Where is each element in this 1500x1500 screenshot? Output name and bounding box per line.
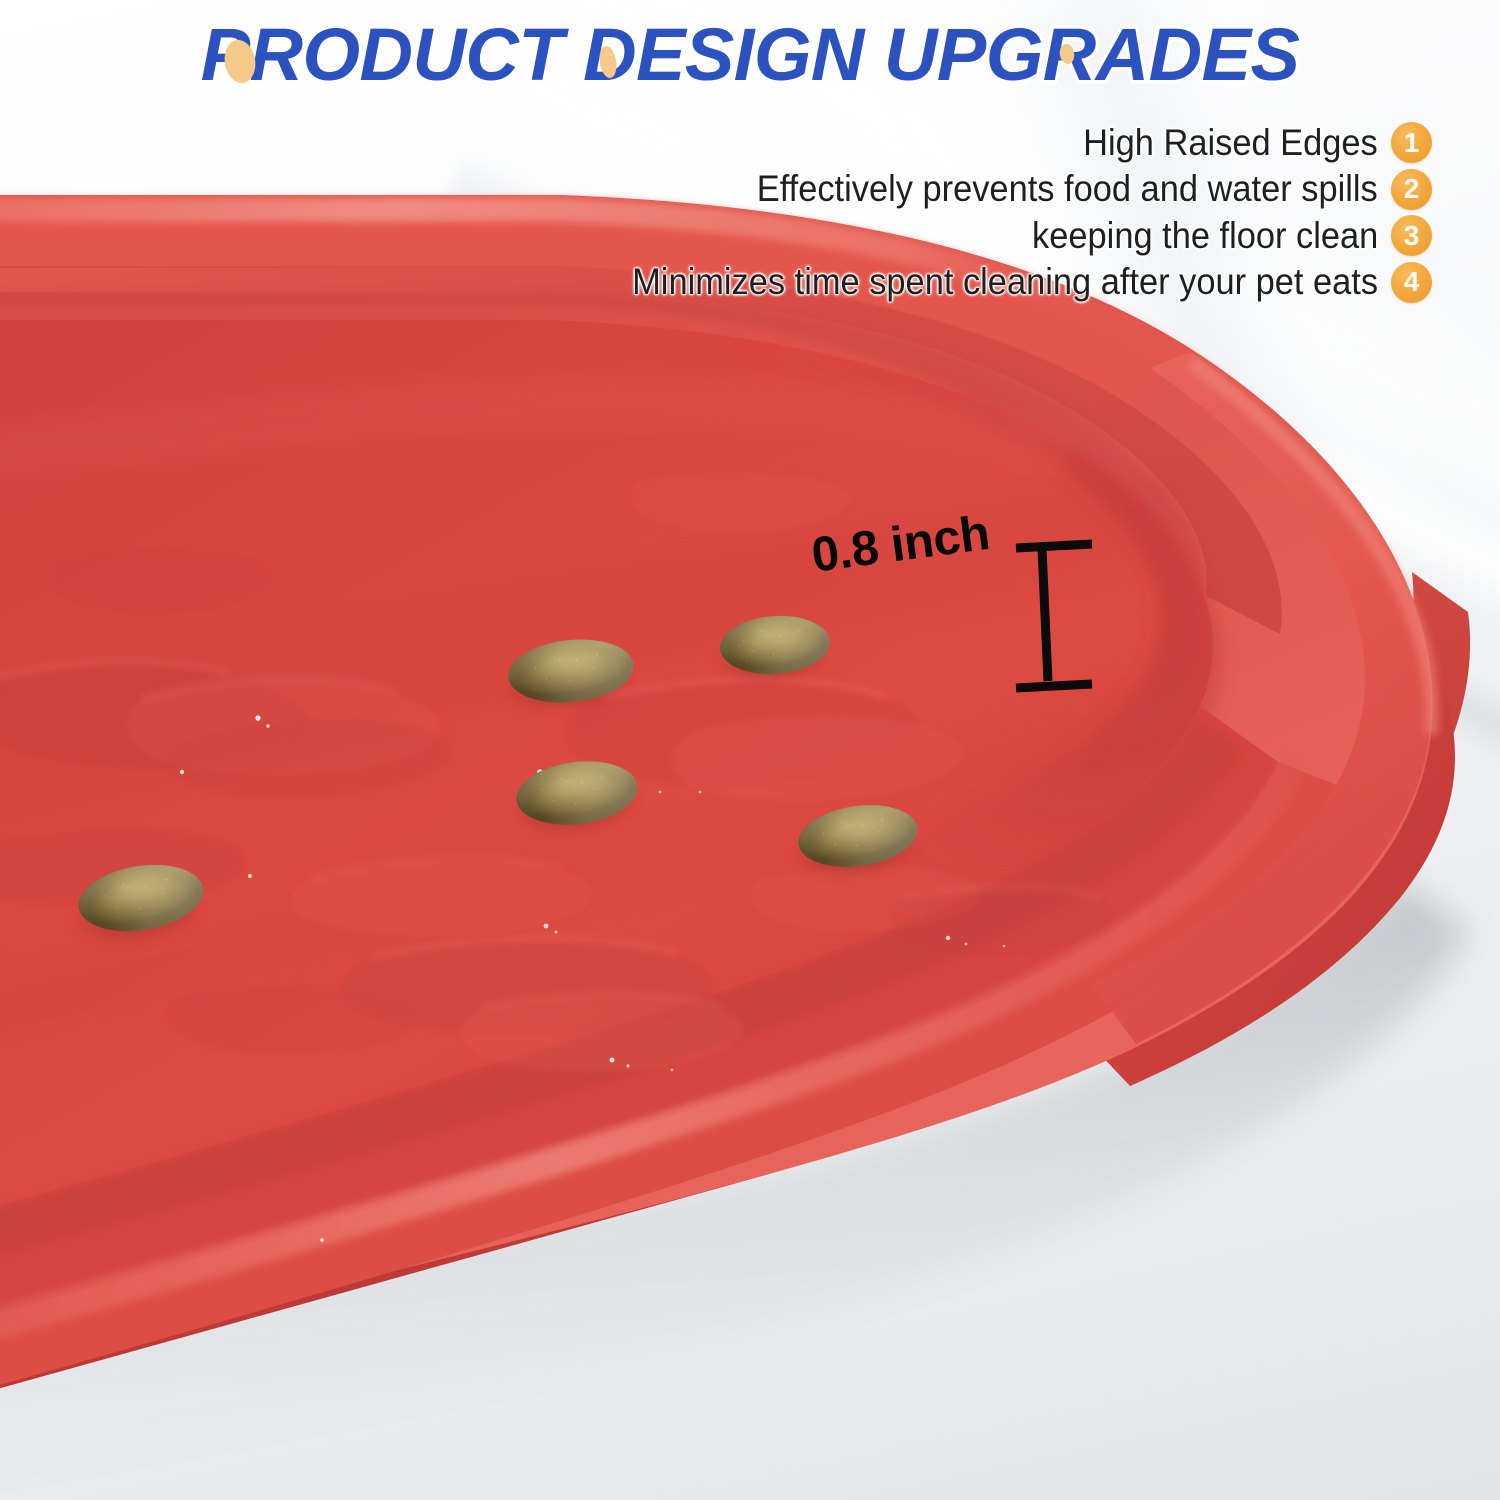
- product-infographic: 0.8 inch PRODUCT DESIGN UPGRADES PRODUCT…: [0, 0, 1500, 1500]
- dimension-callout: 0.8 inch: [806, 506, 1086, 706]
- feature-item: High Raised Edges 1: [1061, 122, 1432, 163]
- feature-label: Minimizes time spent cleaning after your…: [632, 261, 1378, 302]
- feature-label: keeping the floor clean: [1032, 215, 1378, 256]
- feature-number-badge: 2: [1391, 169, 1432, 210]
- feature-item: Minimizes time spent cleaning after your…: [576, 261, 1432, 302]
- i-beam-dimension-line-icon: [994, 520, 1114, 720]
- feature-item: keeping the floor clean 3: [1006, 215, 1432, 256]
- feature-label: Effectively prevents food and water spil…: [757, 168, 1378, 209]
- dimension-label: 0.8 inch: [808, 505, 992, 584]
- feature-number-badge: 4: [1391, 262, 1432, 303]
- feature-label: High Raised Edges: [1083, 122, 1378, 163]
- page-title: PRODUCT DESIGN UPGRADES PRODUCT DESIGN U…: [0, 18, 1500, 92]
- feature-number-badge: 1: [1391, 122, 1432, 163]
- feature-number-badge: 3: [1391, 215, 1432, 256]
- feature-item: Effectively prevents food and water spil…: [710, 168, 1432, 209]
- feature-list: High Raised Edges 1 Effectively prevents…: [482, 122, 1432, 303]
